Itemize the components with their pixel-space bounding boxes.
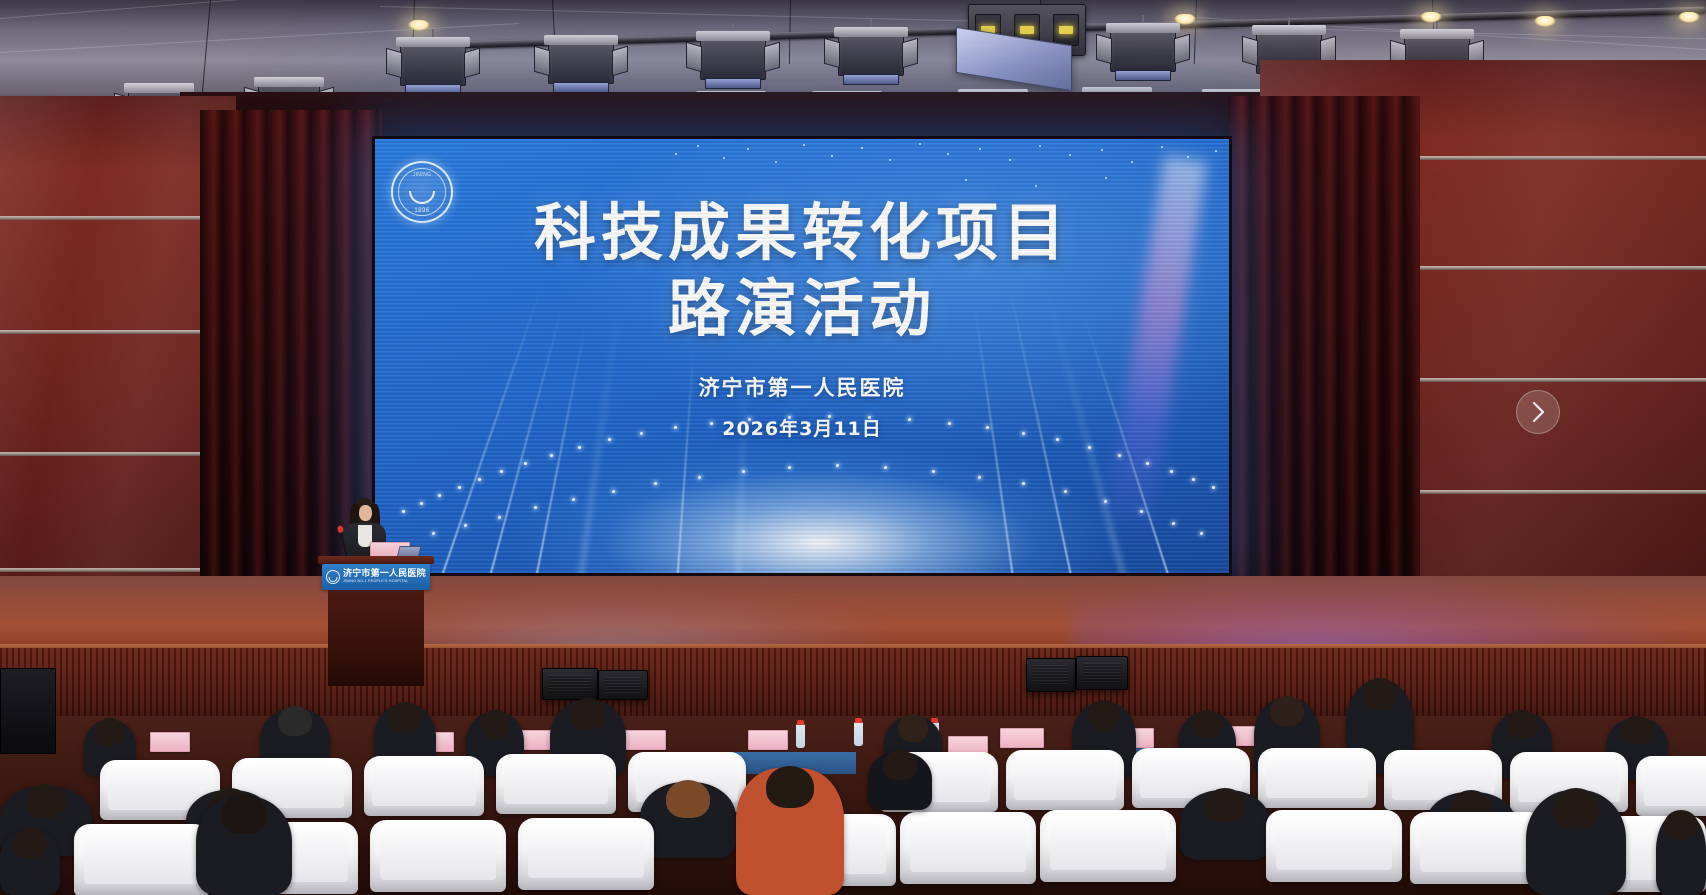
auditorium-seat (364, 756, 484, 816)
auditorium-photo: JINING 1896 科技成果转化项目 路演活动 济宁市第一人民医院 2026… (0, 0, 1706, 895)
audience-person (1180, 790, 1270, 860)
led-stage-screen: JINING 1896 科技成果转化项目 路演活动 济宁市第一人民医院 2026… (372, 136, 1232, 576)
audience-person (868, 752, 932, 810)
screen-date: 2026年3月11日 (375, 414, 1229, 441)
screen-title-line-1: 科技成果转化项目 (375, 195, 1229, 271)
podium: 济宁市第一人民医院 JINING NO.1 PEOPLE'S HOSPITAL (322, 556, 430, 686)
podium-banner: 济宁市第一人民医院 JINING NO.1 PEOPLE'S HOSPITAL (322, 564, 430, 590)
auditorium-seat (1266, 810, 1402, 882)
auditorium-seat (370, 820, 506, 892)
podium-org-en: JINING NO.1 PEOPLE'S HOSPITAL (343, 580, 426, 584)
stage-monitor-speaker (1026, 658, 1076, 692)
stage-monitor-speaker (598, 670, 648, 700)
auditorium-seat (1636, 756, 1706, 816)
stage-monitor-speaker (542, 668, 598, 700)
stage-light-fixture (548, 40, 614, 84)
ceiling-dome-lamp (1420, 12, 1442, 23)
seat-name-card (1000, 728, 1044, 748)
ceiling-dome-lamp (1534, 16, 1556, 27)
auditorium-seat (518, 818, 654, 890)
emblem-arc-text: JINING (413, 172, 432, 178)
side-pa-speaker (0, 668, 56, 754)
seat-name-card (624, 730, 666, 750)
stage-light-fixture (838, 32, 904, 76)
audience-person (640, 782, 736, 858)
stage-curtain-right (1228, 96, 1420, 656)
screen-top-particles (375, 139, 1229, 199)
next-slide-button[interactable] (1516, 390, 1560, 434)
audience-person (1656, 812, 1706, 895)
stage-light-fixture (400, 42, 466, 86)
screen-title-line-2: 路演活动 (375, 271, 1229, 347)
auditorium-seat (1258, 748, 1376, 808)
auditorium-seat (900, 812, 1036, 884)
auditorium-seat (74, 824, 210, 895)
audience-person (0, 830, 60, 895)
seat-name-card (748, 730, 788, 750)
auditorium-seat (1006, 750, 1124, 810)
stage-apron (0, 648, 1706, 722)
chevron-right-icon (1530, 401, 1546, 423)
hospital-seal-icon (326, 570, 340, 584)
screen-text-block: 科技成果转化项目 路演活动 济宁市第一人民医院 2026年3月11日 (375, 195, 1229, 441)
audience-person (196, 796, 292, 895)
water-bottle (854, 722, 863, 746)
auditorium-seat (1040, 810, 1176, 882)
stage-light-fixture (1110, 28, 1176, 72)
stage-light-fixture (700, 36, 766, 80)
stage-monitor-speaker (1076, 656, 1128, 690)
water-bottle (796, 724, 805, 748)
audience-person (1526, 790, 1626, 895)
auditorium-seat (496, 754, 616, 814)
screen-subtitle: 济宁市第一人民医院 (375, 372, 1229, 402)
seat-name-card (150, 732, 190, 752)
ceiling-dome-lamp (408, 20, 430, 31)
ceiling-dome-lamp (1678, 12, 1700, 23)
audience-person (736, 768, 844, 895)
